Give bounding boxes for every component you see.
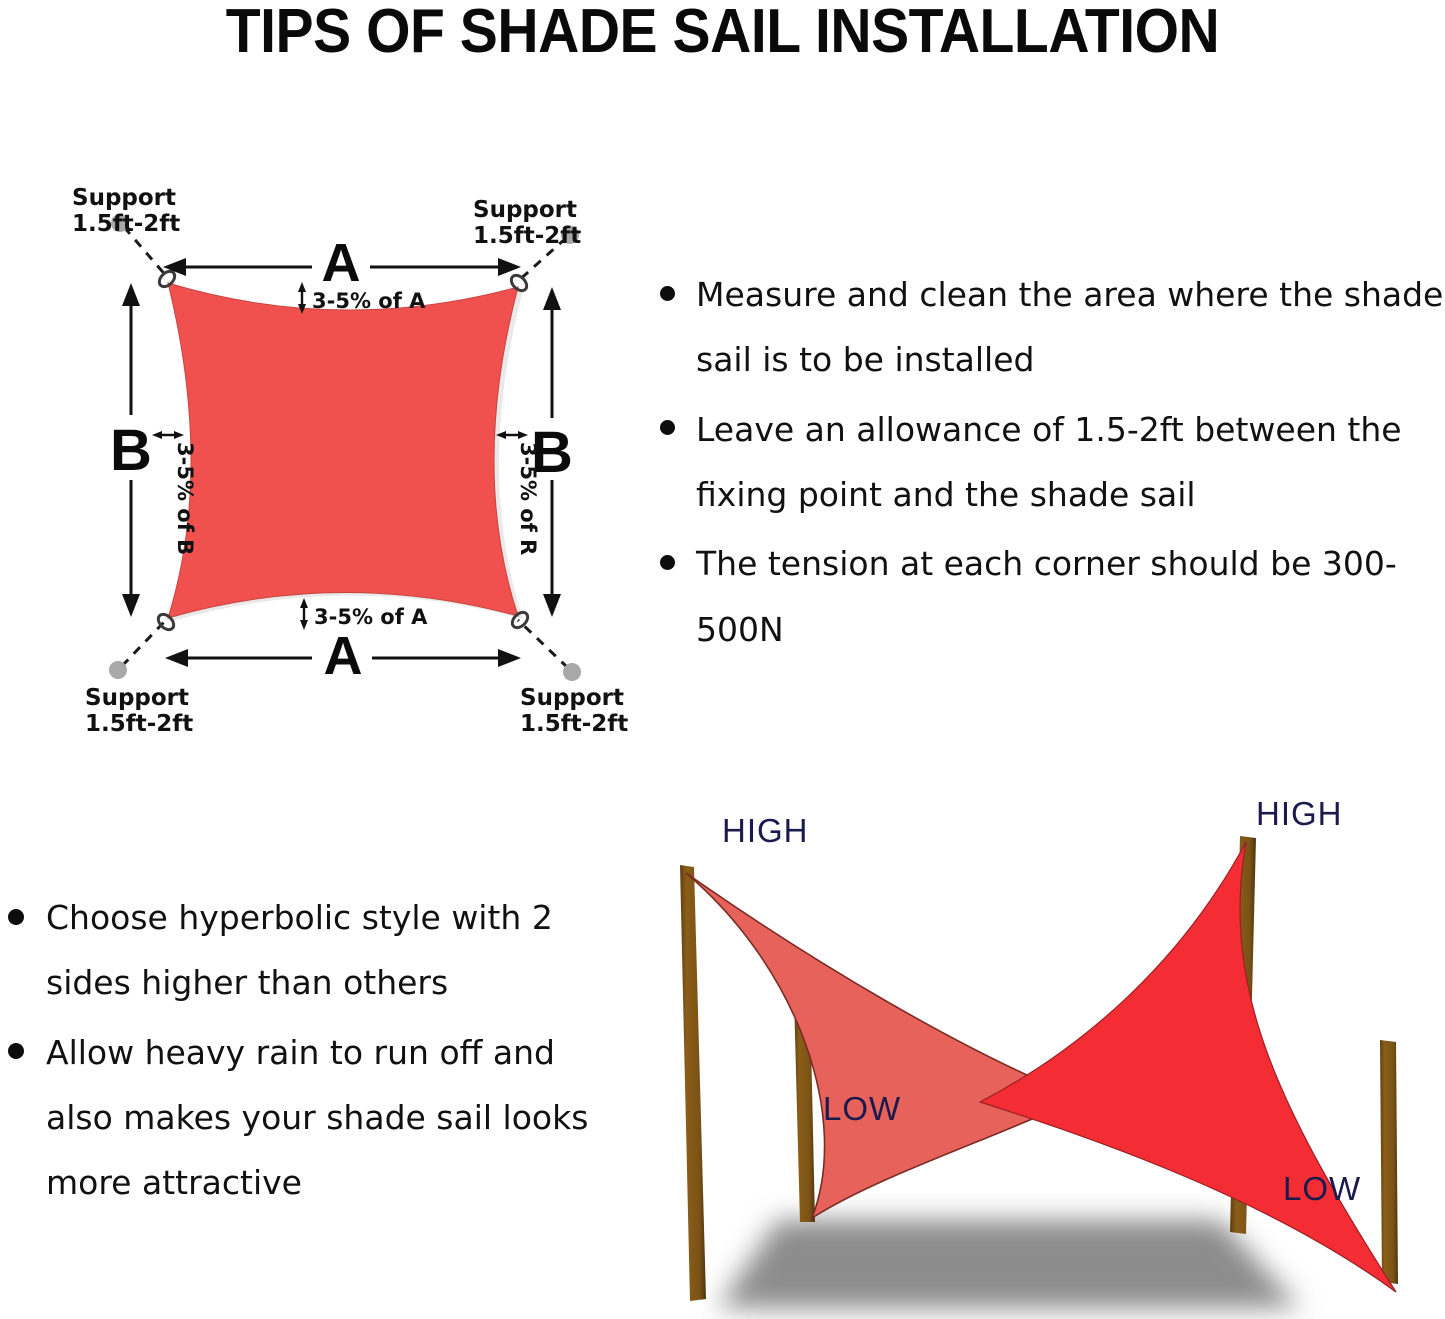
tip-text: Allow heavy rain to run off and also mak… [46,1033,588,1203]
curve-label-top-text: 3-5% of A [312,289,426,313]
sail-corner-label-high-left: HIGH [722,812,809,849]
list-item: The tension at each corner should be 300… [648,531,1445,662]
curve-label-left-text: 3-5% of B [173,442,197,555]
svg-text:Support: Support [85,685,189,711]
dimension-bottom-A: A [165,626,521,686]
sail-corner-label-high-right: HIGH [1256,795,1343,832]
svg-text:Support: Support [520,685,624,711]
support-label-bottom-left: Support 1.5ft-2ft [85,685,193,737]
curve-label-bottom: 3-5% of A [300,598,428,630]
shade-sail-shape [168,283,523,621]
dimension-label-A-bottom: A [324,626,363,686]
infographic-page: TIPS OF SHADE SAIL INSTALLATION [0,0,1445,1319]
curve-label-top: 3-5% of A [298,282,426,314]
dimension-label-B-left: B [110,418,152,483]
installation-tips-bottom: Choose hyperbolic style with 2 sides hig… [0,885,630,1220]
square-sail-diagram: A 3-5% of A A 3-5% of [0,150,640,760]
list-item: Choose hyperbolic style with 2 sides hig… [0,885,630,1016]
bullet-dot-icon [660,286,675,301]
tips-bottom-list: Choose hyperbolic style with 2 sides hig… [0,885,630,1216]
curve-label-right-text: 3-5% of R [516,442,540,555]
curve-label-left: 3-5% of B [152,431,197,555]
support-label-top-right: Support 1.5ft-2ft [473,197,581,249]
list-item: Allow heavy rain to run off and also mak… [0,1020,630,1216]
hyperbolic-sail-diagram: HIGH HIGH LOW LOW [660,780,1445,1319]
bullet-dot-icon [660,555,675,570]
tip-text: Leave an allowance of 1.5-2ft between th… [696,410,1402,514]
svg-text:1.5ft-2ft: 1.5ft-2ft [72,211,180,237]
svg-text:1.5ft-2ft: 1.5ft-2ft [85,711,193,737]
sail-corner-label-low-right: LOW [1283,1170,1361,1207]
tips-top-list: Measure and clean the area where the sha… [648,262,1445,662]
support-label-top-left: Support 1.5ft-2ft [72,185,180,237]
bullet-dot-icon [660,420,675,435]
tip-text: Choose hyperbolic style with 2 sides hig… [46,898,553,1002]
bullet-dot-icon [8,1043,24,1059]
dimension-left-B: B [110,283,152,617]
page-title: TIPS OF SHADE SAIL INSTALLATION [58,0,1387,67]
svg-text:1.5ft-2ft: 1.5ft-2ft [520,711,628,737]
list-item: Measure and clean the area where the sha… [648,262,1445,393]
dimension-top-A: A [163,233,521,293]
sail-panel-back [686,873,1080,1218]
sail-corner-label-low-left: LOW [823,1090,901,1127]
support-label-bottom-right: Support 1.5ft-2ft [520,685,628,737]
svg-text:1.5ft-2ft: 1.5ft-2ft [473,223,581,249]
list-item: Leave an allowance of 1.5-2ft between th… [648,397,1445,528]
post-low-right [1380,1040,1398,1284]
dimension-label-A-top: A [322,233,361,293]
installation-tips-top: Measure and clean the area where the sha… [648,262,1445,666]
tip-text: Measure and clean the area where the sha… [696,275,1443,379]
post-high-left [680,865,706,1301]
svg-text:Support: Support [72,185,176,211]
tip-text: The tension at each corner should be 300… [696,544,1397,648]
bullet-dot-icon [8,909,24,925]
ground-shadow [718,1220,1300,1308]
curve-label-bottom-text: 3-5% of A [314,605,428,629]
svg-text:Support: Support [473,197,577,223]
